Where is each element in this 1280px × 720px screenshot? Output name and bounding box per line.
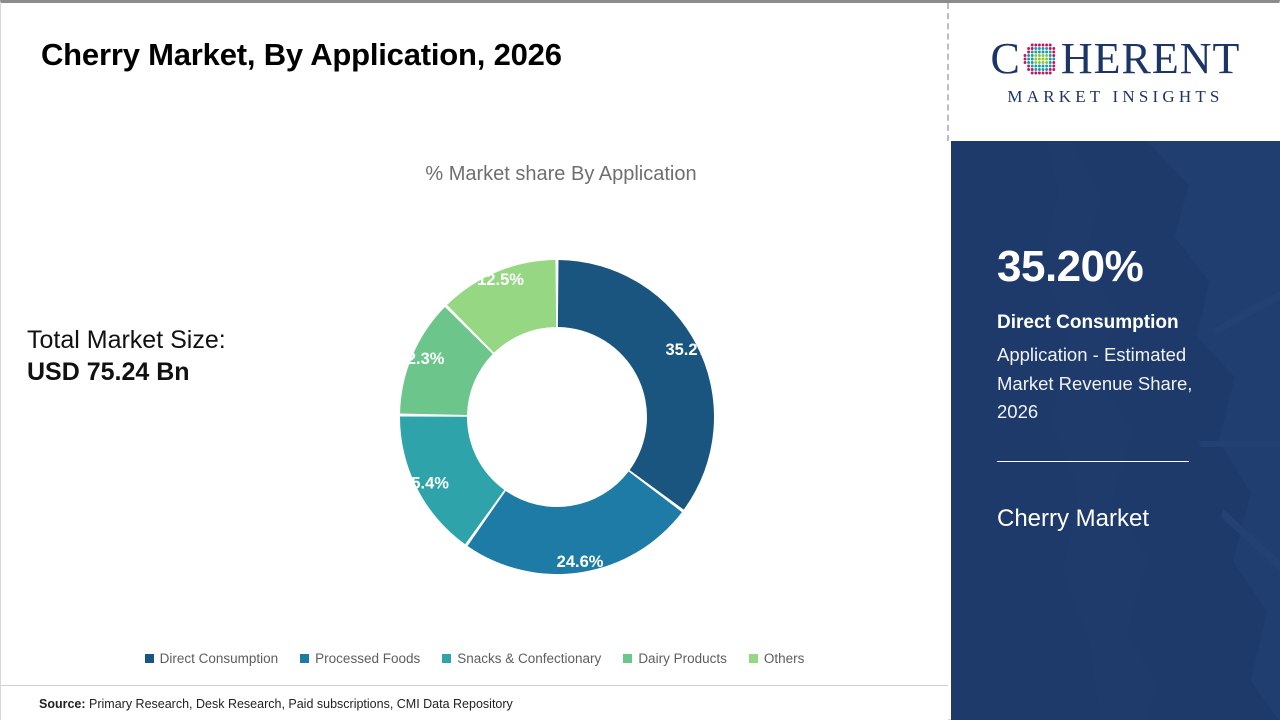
globe-dot [1045, 44, 1048, 47]
panel-divider [947, 3, 949, 141]
globe-dot [1052, 54, 1055, 57]
globe-dot [1049, 47, 1052, 50]
globe-dot [1045, 47, 1048, 50]
globe-dot [1045, 54, 1048, 57]
chart-legend: Direct ConsumptionProcessed FoodsSnacks … [1, 651, 948, 666]
stat-description: Application - Estimated Market Revenue S… [997, 341, 1229, 427]
globe-dot [1038, 51, 1041, 54]
globe-dot [1041, 47, 1044, 50]
globe-dot [1041, 61, 1044, 64]
globe-dot [1045, 72, 1048, 75]
legend-swatch-icon [145, 654, 154, 663]
brand-name-rest: HERENT [1061, 37, 1241, 81]
globe-dot [1031, 65, 1034, 68]
globe-dot [1049, 61, 1052, 64]
globe-dot [1049, 51, 1052, 54]
globe-dot [1023, 58, 1026, 61]
globe-dot [1045, 68, 1048, 71]
globe-dot [1045, 65, 1048, 68]
legend-item[interactable]: Snacks & Confectionary [442, 651, 601, 666]
donut-slice-label: 12.3% [398, 350, 445, 368]
globe-dot [1034, 54, 1037, 57]
globe-dot [1041, 65, 1044, 68]
globe-dot [1038, 65, 1041, 68]
globe-dot [1041, 58, 1044, 61]
globe-dot [1045, 61, 1048, 64]
globe-dot [1034, 65, 1037, 68]
globe-dot [1031, 51, 1034, 54]
globe-dot [1034, 68, 1037, 71]
sidebar-divider [997, 461, 1189, 462]
legend-swatch-icon [442, 654, 451, 663]
total-market-size-value: USD 75.24 Bn [27, 356, 327, 389]
globe-dot [1034, 44, 1037, 47]
globe-dot [1045, 51, 1048, 54]
globe-dot [1052, 51, 1055, 54]
globe-dot [1027, 47, 1030, 50]
legend-label: Processed Foods [315, 651, 420, 666]
globe-dot [1027, 51, 1030, 54]
globe-dot [1031, 44, 1034, 47]
legend-swatch-icon [623, 654, 632, 663]
donut-slice-group [400, 260, 714, 574]
globe-dot [1045, 58, 1048, 61]
total-market-size-label: Total Market Size: [27, 325, 327, 356]
stat-name: Direct Consumption [997, 311, 1179, 335]
globe-dot [1049, 44, 1052, 47]
globe-dot [1031, 47, 1034, 50]
globe-dot [1041, 44, 1044, 47]
donut-chart: 35.2%24.6%15.4%12.3%12.5% [371, 225, 751, 615]
globe-dot [1027, 54, 1030, 57]
globe-dot [1041, 68, 1044, 71]
globe-dot [1031, 58, 1034, 61]
globe-dot [1052, 65, 1055, 68]
sidebar: C HERENT MARKET INSIGHTS 35.20% Direct C… [951, 3, 1280, 720]
legend-item[interactable]: Dairy Products [623, 651, 727, 666]
donut-slice-label: 15.4% [402, 474, 449, 492]
market-name: Cherry Market [997, 505, 1149, 534]
globe-dot [1038, 61, 1041, 64]
globe-dot [1038, 47, 1041, 50]
legend-swatch-icon [300, 654, 309, 663]
source-prefix: Source: [39, 697, 86, 711]
globe-dot [1034, 72, 1037, 75]
donut-slice [558, 260, 714, 510]
globe-dot [1041, 72, 1044, 75]
globe-dot [1031, 68, 1034, 71]
globe-dot [1038, 68, 1041, 71]
legend-swatch-icon [749, 654, 758, 663]
globe-dot [1049, 54, 1052, 57]
globe-dot [1031, 72, 1034, 75]
brand-tagline: MARKET INSIGHTS [1007, 87, 1223, 107]
donut-slice-label: 35.2% [665, 341, 712, 359]
donut-chart-svg: 35.2%24.6%15.4%12.3%12.5% [371, 225, 751, 615]
sidebar-content: 35.20% Direct Consumption Application - … [997, 141, 1247, 720]
globe-dot [1038, 54, 1041, 57]
legend-label: Snacks & Confectionary [457, 651, 601, 666]
legend-label: Dairy Products [638, 651, 727, 666]
stat-value: 35.20% [997, 245, 1143, 289]
globe-dot [1052, 58, 1055, 61]
total-market-size-block: Total Market Size: USD 75.24 Bn [27, 325, 327, 389]
globe-dot [1052, 61, 1055, 64]
globe-dot [1031, 54, 1034, 57]
globe-dot [1034, 47, 1037, 50]
infographic-page: Cherry Market, By Application, 2026 Tota… [0, 0, 1280, 720]
globe-dot [1049, 65, 1052, 68]
sidebar-highlight-panel: 35.20% Direct Consumption Application - … [951, 141, 1280, 720]
globe-dot [1049, 68, 1052, 71]
legend-item[interactable]: Processed Foods [300, 651, 420, 666]
globe-dot [1031, 61, 1034, 64]
globe-dot [1038, 58, 1041, 61]
globe-dot [1038, 72, 1041, 75]
globe-dot [1027, 68, 1030, 71]
globe-dot [1027, 61, 1030, 64]
donut-slice-label: 24.6% [557, 553, 604, 571]
chart-subtitle: % Market share By Application [311, 163, 811, 186]
brand-name-first-letter: C [991, 37, 1021, 81]
globe-dot [1027, 65, 1030, 68]
globe-dot [1027, 58, 1030, 61]
main-panel: Cherry Market, By Application, 2026 Tota… [1, 3, 948, 720]
globe-dot [1023, 61, 1026, 64]
brand-logo: C HERENT MARKET INSIGHTS [951, 3, 1280, 141]
globe-dot [1049, 58, 1052, 61]
globe-dot [1034, 58, 1037, 61]
source-bar: Source: Primary Research, Desk Research,… [1, 685, 948, 720]
brand-name: C HERENT [991, 37, 1241, 81]
globe-dot [1049, 72, 1052, 75]
globe-dot [1052, 68, 1055, 71]
legend-item[interactable]: Others [749, 651, 805, 666]
globe-dot [1038, 44, 1041, 47]
globe-dot [1034, 61, 1037, 64]
page-title: Cherry Market, By Application, 2026 [41, 37, 562, 73]
globe-dot [1052, 47, 1055, 50]
globe-dot [1034, 51, 1037, 54]
globe-icon [1022, 40, 1060, 78]
legend-label: Others [764, 651, 805, 666]
globe-dot [1041, 54, 1044, 57]
globe-dot [1023, 54, 1026, 57]
globe-dot [1041, 51, 1044, 54]
source-detail: Primary Research, Desk Research, Paid su… [86, 697, 513, 711]
source-text: Source: Primary Research, Desk Research,… [39, 697, 513, 711]
legend-label: Direct Consumption [160, 651, 279, 666]
donut-slice-label: 12.5% [477, 271, 524, 289]
legend-item[interactable]: Direct Consumption [145, 651, 279, 666]
